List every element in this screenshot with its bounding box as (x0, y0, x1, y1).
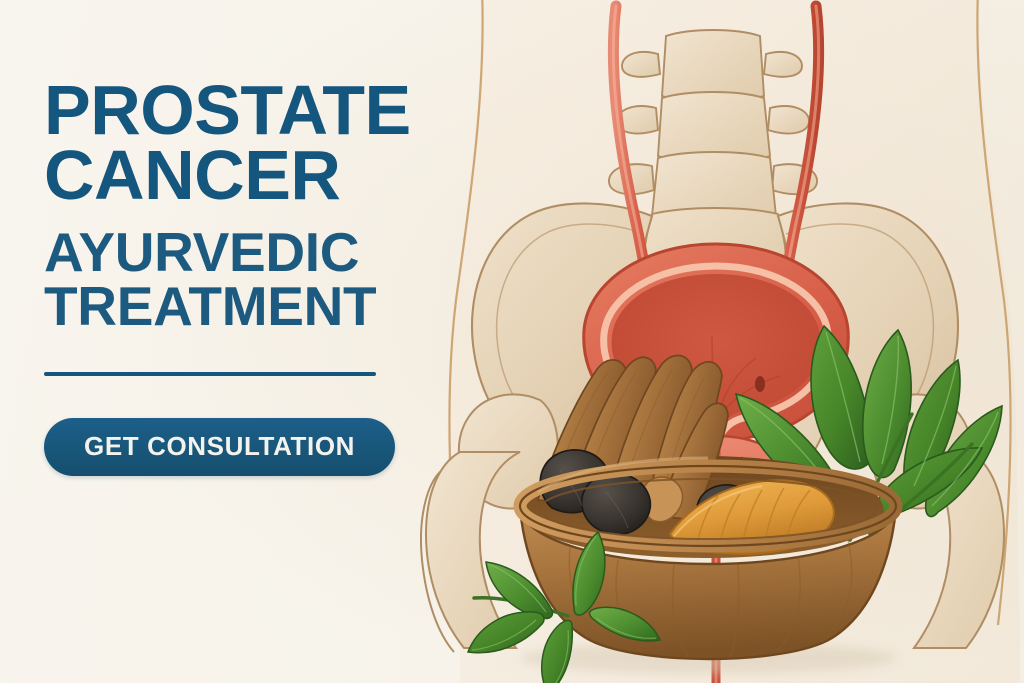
page-title: PROSTATE CANCER (44, 78, 474, 208)
page-subtitle: AYURVEDIC TREATMENT (44, 226, 474, 334)
get-consultation-button[interactable]: GET CONSULTATION (44, 418, 395, 476)
divider (44, 372, 376, 376)
subhead-line-1: AYURVEDIC (44, 221, 359, 283)
subhead-line-2: TREATMENT (44, 280, 474, 334)
copy-block: PROSTATE CANCER AYURVEDIC TREATMENT GET … (44, 78, 474, 476)
anatomy-illustration (420, 0, 1024, 683)
ureteral-orifice-right (755, 376, 765, 392)
headline-line-2: CANCER (44, 143, 474, 208)
promo-banner: PROSTATE CANCER AYURVEDIC TREATMENT GET … (0, 0, 1024, 683)
